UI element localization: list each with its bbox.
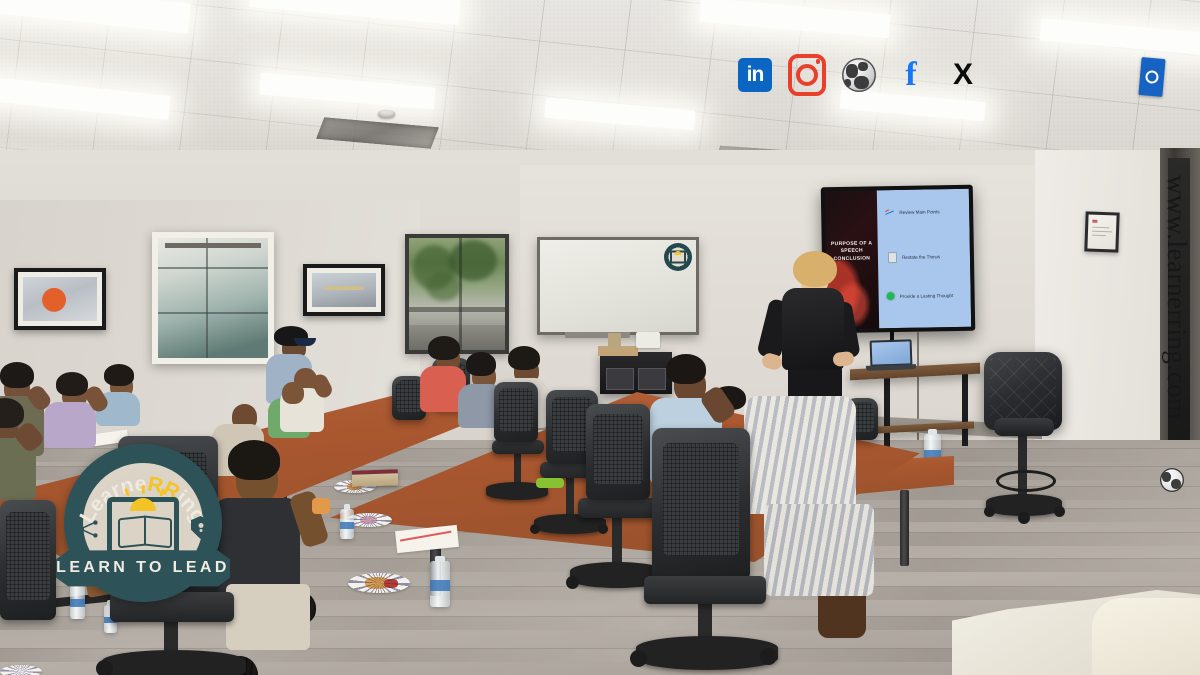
shoe: [536, 478, 564, 488]
facebook-icon[interactable]: f: [892, 56, 930, 94]
globe-watermark-icon: [1160, 468, 1184, 492]
paper-plate: [0, 665, 42, 675]
open-book-icon: [144, 515, 172, 548]
chair-post: [566, 476, 574, 518]
framed-helicopter-photo: [14, 268, 106, 330]
slide-body: Review Main Points Restate the Thesis Pr…: [877, 189, 972, 329]
instagram-icon[interactable]: [788, 56, 826, 94]
stool-footring: [996, 470, 1056, 492]
chair-post: [612, 516, 622, 568]
linkedin-icon[interactable]: in: [736, 56, 774, 94]
caster: [598, 524, 608, 534]
caster: [96, 660, 113, 675]
slide-bullet: Restate the Thesis: [888, 251, 940, 263]
x-twitter-icon[interactable]: X: [944, 56, 982, 94]
framed-osprey-photo: [303, 264, 385, 316]
website-url[interactable]: www.learnerring.com: [1161, 175, 1192, 420]
book: [352, 469, 399, 487]
chair-seat: [578, 498, 658, 518]
smoke-detector-icon: [378, 110, 395, 118]
caster: [760, 648, 777, 665]
chair-seat: [644, 576, 766, 604]
chart-line-icon: [885, 209, 894, 216]
student-head: [282, 382, 304, 404]
student-torso: [44, 402, 96, 448]
slide-bullet: Review Main Points: [885, 209, 939, 217]
desk-leg: [962, 374, 968, 446]
accessibility-sign: [1138, 57, 1165, 97]
stool-seat: [994, 418, 1054, 436]
caster: [984, 506, 995, 517]
desk-leg: [884, 376, 890, 454]
table-cloth-fold: [1092, 598, 1200, 675]
framed-certificate: [1084, 211, 1119, 252]
chair-seat: [492, 440, 544, 454]
caster: [1018, 512, 1030, 524]
mesh-task-chair[interactable]: [494, 382, 538, 442]
presenter-hair: [793, 251, 837, 287]
presenter-laptop[interactable]: [870, 339, 913, 366]
tissue-box: [636, 332, 660, 348]
interior-window: [152, 232, 274, 364]
social-icon-row: in f X: [736, 56, 982, 94]
student-hair: [56, 372, 88, 396]
student-hair: [428, 336, 460, 360]
student-hair: [0, 362, 34, 388]
student-hair: [104, 364, 134, 386]
table-leg: [900, 490, 909, 566]
learnerring-logo: LearneRRing LEARN TO LEAD: [64, 444, 222, 602]
water-bottle: [340, 509, 354, 539]
slide-title: PURPOSE OF A SPEECH CONCLUSION: [829, 240, 875, 263]
caster: [566, 576, 579, 589]
whiteboard[interactable]: [537, 237, 699, 335]
exterior-window: [405, 234, 509, 354]
slide-bullet: Provide a Lasting Thought: [887, 291, 954, 300]
whiteboard-logo-icon: [664, 243, 692, 271]
student-hair: [666, 354, 706, 384]
chair-base: [102, 650, 246, 675]
paper-plate: [348, 573, 410, 593]
caster: [630, 650, 647, 667]
student-shorts: [226, 584, 310, 650]
chair-post: [514, 452, 521, 486]
student-torso: [744, 396, 856, 514]
globe-website-icon[interactable]: [840, 56, 878, 94]
mesh-task-chair[interactable]: [586, 404, 650, 500]
green-dot-icon: [887, 292, 895, 300]
student-shorts: [764, 504, 874, 596]
caster: [1054, 506, 1065, 517]
open-book-icon: [118, 515, 146, 548]
snack-in-hand: [312, 498, 330, 514]
student-hair: [228, 440, 280, 480]
caster: [530, 524, 540, 534]
mesh-task-chair[interactable]: [652, 428, 750, 580]
photo-scene: PURPOSE OF A SPEECH CONCLUSION Review Ma…: [0, 0, 1200, 675]
supply-credenza: [600, 352, 672, 394]
water-bottle: [430, 561, 450, 607]
network-node-icon: [78, 518, 100, 540]
student-hair: [466, 352, 496, 376]
logo-tagline-banner: LEARN TO LEAD: [56, 548, 230, 588]
mesh-task-chair[interactable]: [0, 500, 56, 620]
document-icon: [888, 252, 897, 263]
chair-base: [636, 636, 778, 670]
student-hair: [508, 346, 540, 370]
marker-cup: [608, 333, 621, 349]
